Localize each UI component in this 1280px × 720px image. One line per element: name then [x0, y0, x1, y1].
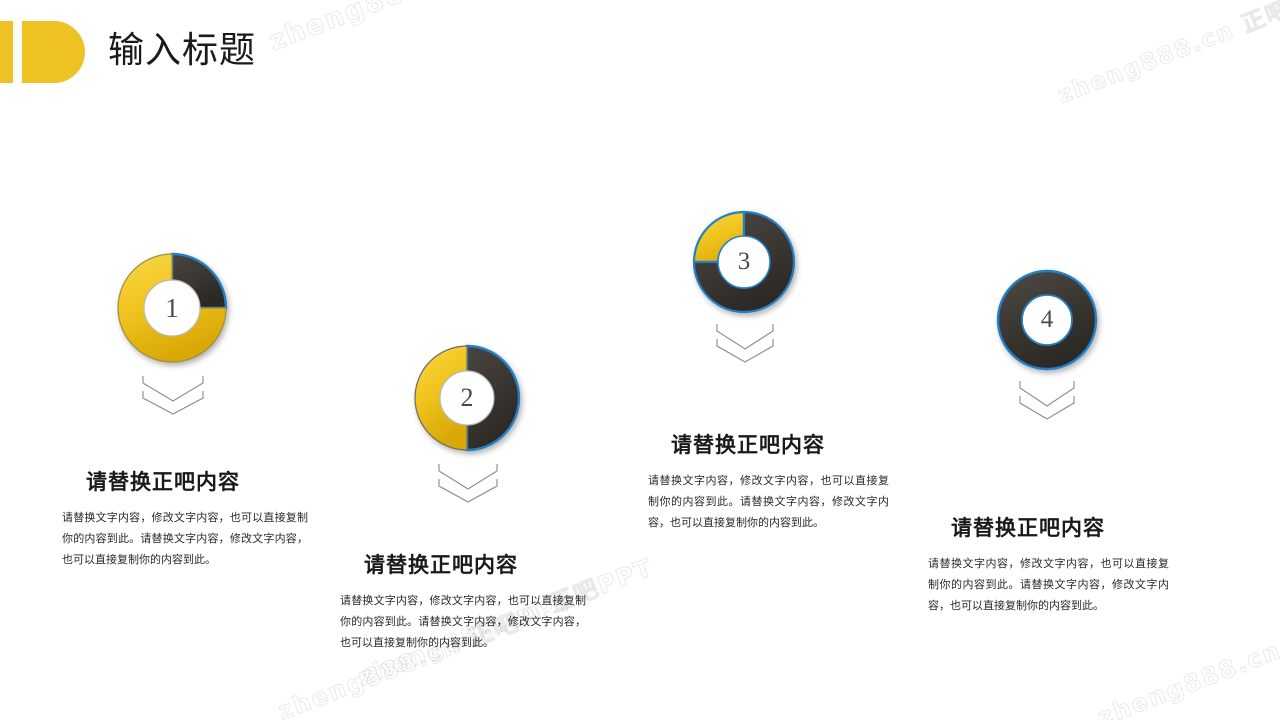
donut-chart-2[interactable]: 2	[411, 342, 523, 454]
item-2-heading: 请替换正吧内容	[364, 549, 518, 579]
title-badge	[0, 21, 86, 83]
page-title: 输入标题	[108, 26, 256, 74]
item-2-body: 请替换文字内容，修改文字内容，也可以直接复制你的内容到此。请替换文字内容，修改文…	[340, 591, 586, 654]
donut-2-svg	[411, 342, 523, 454]
item-1-body: 请替换文字内容，修改文字内容，也可以直接复制你的内容到此。请替换文字内容，修改文…	[62, 508, 308, 571]
slide-canvas: 输入标题	[0, 0, 1280, 720]
chevron-2-svg	[436, 462, 500, 504]
donut-1-svg	[114, 250, 230, 366]
donut-4-svg	[995, 268, 1099, 372]
item-3-body: 请替换文字内容，修改文字内容，也可以直接复制你的内容到此。请替换文字内容，修改文…	[648, 471, 889, 534]
watermark-1: zheng888.cn 正吧PPT	[262, 0, 602, 58]
donut-3-svg	[690, 208, 798, 316]
donut-chart-1[interactable]: 1	[114, 250, 230, 366]
item-4-body: 请替换文字内容，修改文字内容，也可以直接复制你的内容到此。请替换文字内容，修改文…	[928, 554, 1169, 617]
chevron-1-svg	[140, 374, 206, 416]
title-badge-dshape	[22, 21, 85, 83]
watermark-2: zheng888.cn 正吧PPT	[1052, 0, 1280, 110]
chevron-decoration-4	[1017, 379, 1077, 421]
chevron-4-svg	[1017, 379, 1077, 421]
title-badge-bar	[0, 21, 13, 83]
chevron-decoration-1	[140, 374, 206, 416]
chevron-3-svg	[714, 322, 776, 364]
donut-chart-3[interactable]: 3	[690, 208, 798, 316]
chevron-decoration-2	[436, 462, 500, 504]
donut-chart-4[interactable]: 4	[995, 268, 1099, 372]
item-3-heading: 请替换正吧内容	[671, 429, 825, 459]
item-4-heading: 请替换正吧内容	[951, 512, 1105, 542]
chevron-decoration-3	[714, 322, 776, 364]
item-1-heading: 请替换正吧内容	[86, 466, 240, 496]
